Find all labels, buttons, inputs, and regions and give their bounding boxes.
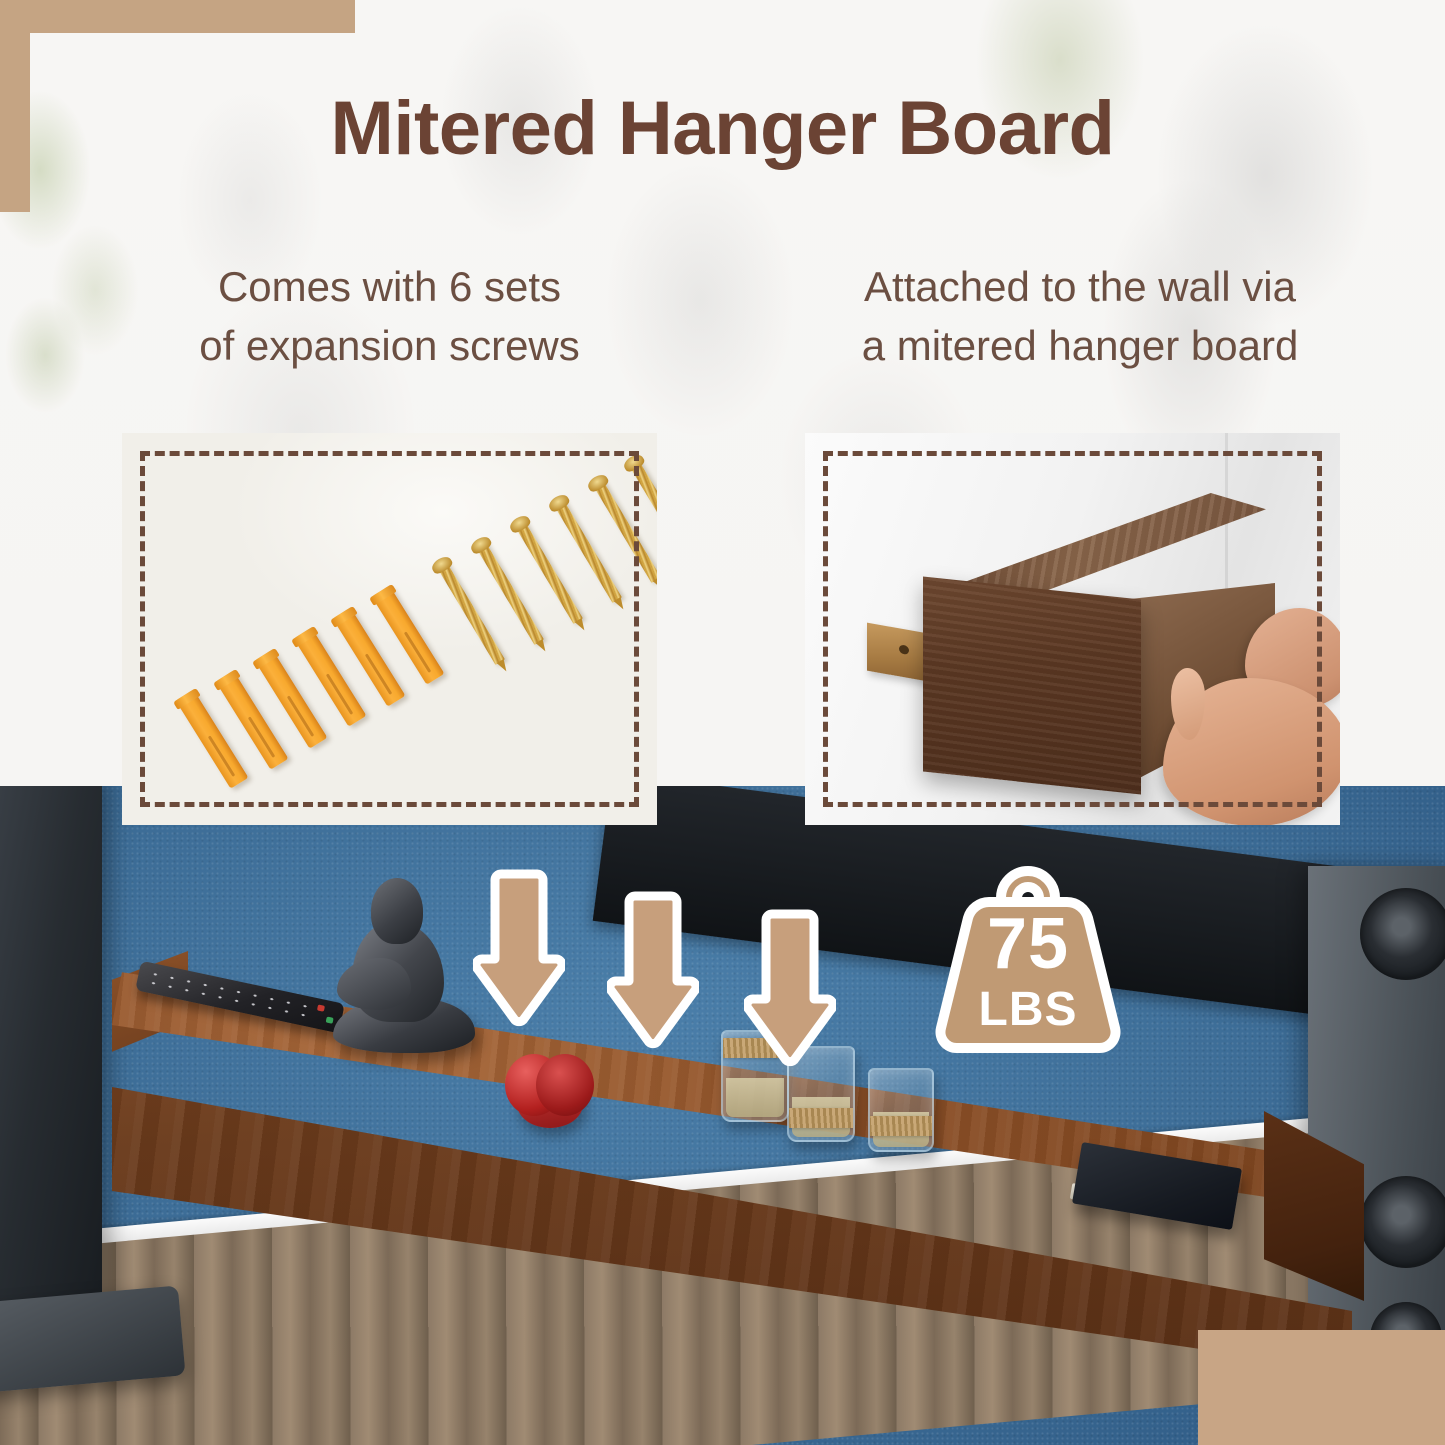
heart-decor — [505, 1054, 597, 1128]
shelf-beam-mitered-end — [923, 577, 1141, 795]
corner-accent-bottom-right — [1198, 1330, 1445, 1445]
wall-photo-backdrop — [805, 433, 1340, 825]
arrow-down-icon — [607, 890, 699, 1050]
screws-photo-backdrop — [122, 433, 657, 825]
figurine-head — [371, 878, 423, 944]
arrow-down-icon — [473, 868, 565, 1028]
caption-line-1: Comes with 6 sets — [112, 258, 667, 317]
speaker-tower-left — [0, 786, 102, 1336]
arrow-down-icon — [744, 908, 836, 1068]
infographic-canvas: Mitered Hanger Board Comes with 6 sets o… — [0, 0, 1445, 1445]
jar-twine — [868, 1116, 934, 1136]
weight-capacity-badge: 75 LBS — [903, 836, 1153, 1072]
cleat-screw-hole — [899, 644, 909, 655]
meditating-figurine — [333, 878, 475, 1053]
page-title: Mitered Hanger Board — [0, 85, 1445, 172]
speaker-driver — [1360, 888, 1445, 980]
heart-lobe-right — [536, 1054, 594, 1116]
caption-line-2: of expansion screws — [112, 317, 667, 376]
speaker-driver — [1360, 1176, 1445, 1268]
caption-expansion-screws: Comes with 6 sets of expansion screws — [112, 258, 667, 376]
remote-power-button — [317, 1004, 325, 1011]
caption-line-1: Attached to the wall via — [760, 258, 1400, 317]
caption-line-2: a mitered hanger board — [760, 317, 1400, 376]
caption-hanger-board: Attached to the wall via a mitered hange… — [760, 258, 1400, 376]
corner-accent-top-left-horizontal — [0, 0, 355, 33]
jar-twine — [787, 1108, 855, 1128]
photo-card-hanger-board — [805, 433, 1340, 825]
speaker-base-left — [0, 1285, 186, 1392]
jar-contents — [726, 1078, 784, 1117]
weight-unit: LBS — [903, 986, 1153, 1034]
photo-card-expansion-screws — [122, 433, 657, 825]
glass-jar — [868, 1068, 934, 1152]
figurine-arm — [337, 958, 411, 1010]
weight-value: 75 — [903, 908, 1153, 980]
